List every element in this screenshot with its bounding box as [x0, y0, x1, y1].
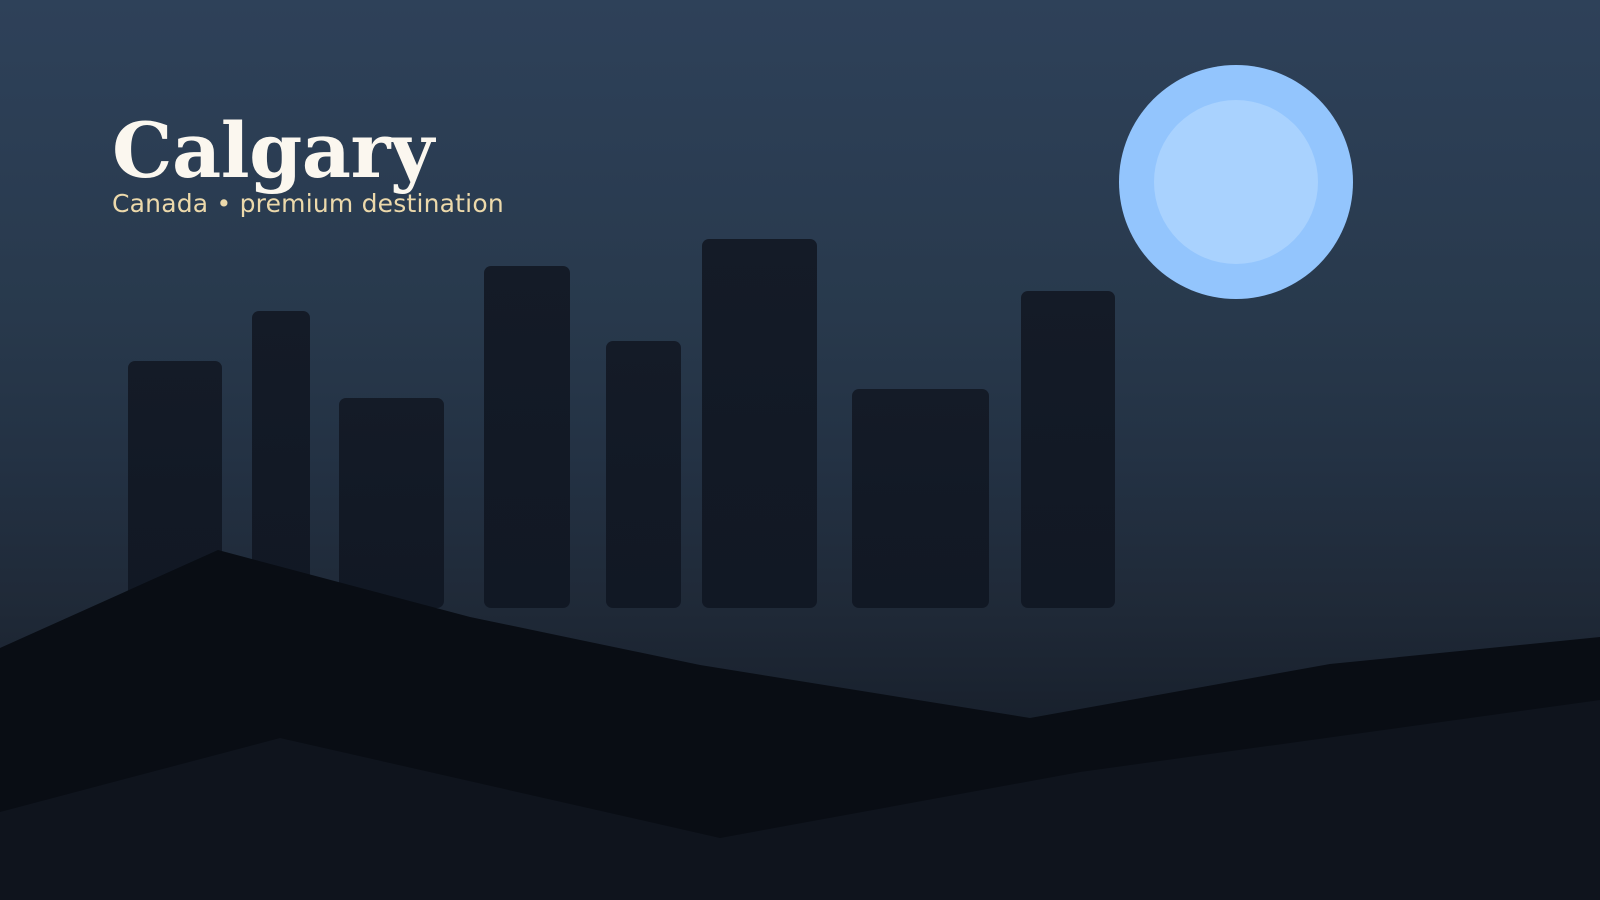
poster-canvas: Calgary Canada • premium destination: [0, 0, 1600, 900]
page-subtitle: Canada • premium destination: [112, 190, 504, 218]
page-title: Calgary: [112, 116, 504, 186]
title-block: Calgary Canada • premium destination: [112, 116, 504, 217]
